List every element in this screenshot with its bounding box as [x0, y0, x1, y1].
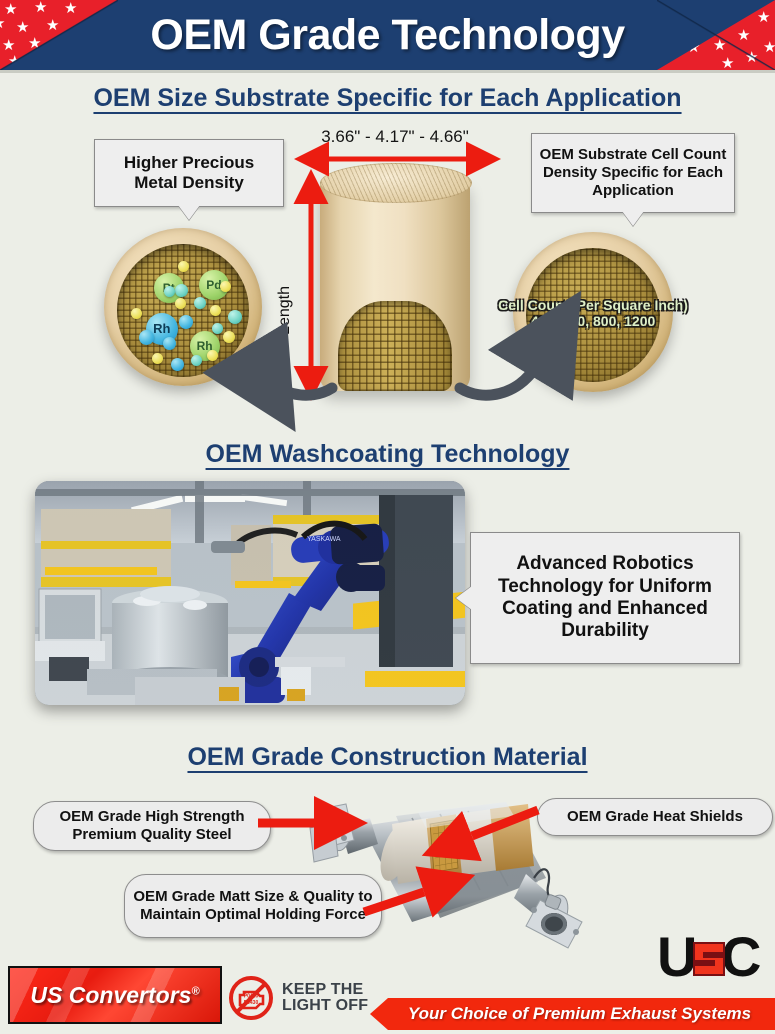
- keep-the-light-off-logo: P0420 P0430 KEEP THE LIGHT OFF: [228, 975, 368, 1021]
- page-title: OEM Grade Technology: [0, 0, 775, 70]
- no-check-engine-light-icon: P0420 P0430: [228, 975, 274, 1021]
- metal-particle: [139, 330, 154, 345]
- cell-count-annotation: Cell Count (Per Square Inch) 400, 600, 8…: [495, 297, 691, 329]
- usc-logo-s: [693, 942, 725, 976]
- callout-tail-icon: [178, 205, 200, 220]
- substrate-cylinder: [320, 163, 470, 403]
- substrate-cell-grid: PtPdRhRh: [117, 244, 250, 377]
- metal-particle: [210, 305, 221, 316]
- robotics-photo: YASKAWA: [35, 481, 465, 705]
- callout-text: Higher Precious Metal Density: [101, 153, 277, 193]
- metal-particle: [131, 308, 142, 319]
- registered-mark: ®: [191, 985, 199, 997]
- callout-advanced-robotics: Advanced Robotics Technology for Uniform…: [470, 532, 740, 664]
- metal-particle: [220, 281, 231, 292]
- callout-tail-icon: [456, 586, 472, 610]
- tagline-banner: Your Choice of Premium Exhaust Systems: [370, 998, 775, 1030]
- metal-particle: [171, 358, 184, 371]
- keep-light-line1: KEEP THE: [282, 982, 368, 998]
- metal-particle: [175, 298, 186, 309]
- brand-name: US Convertors®: [30, 982, 199, 1009]
- pill-oem-grade-matt: OEM Grade Matt Size & Quality to Maintai…: [124, 874, 382, 938]
- tagline-text: Your Choice of Premium Exhaust Systems: [394, 1004, 751, 1024]
- infographic-page: ★ ★ ★ ★ ★ ★ ★ ★ ★ ★ ★ ★ ★ ★ ★ ★ ★: [0, 0, 775, 1034]
- callout-tail-icon: [622, 211, 644, 226]
- pill-oem-grade-steel: OEM Grade High Strength Premium Quality …: [33, 801, 271, 851]
- cylinder-body: [320, 181, 470, 391]
- pill-text: OEM Grade Heat Shields: [567, 808, 743, 826]
- pill-oem-grade-heat-shields: OEM Grade Heat Shields: [537, 798, 773, 836]
- metal-particle: [163, 337, 176, 350]
- metal-particle: [191, 355, 202, 366]
- pill-text: OEM Grade Matt Size & Quality to Maintai…: [133, 888, 373, 924]
- curved-arrow-right-icon: [452, 340, 552, 402]
- metal-particle: [207, 350, 218, 361]
- keep-light-line2: LIGHT OFF: [282, 998, 368, 1014]
- cylinder-top-face: [320, 163, 472, 203]
- arrow-to-heat-shields-icon: [456, 804, 546, 850]
- factory-scene-illustration: YASKAWA: [35, 481, 465, 705]
- diameter-label: 3.66" - 4.17" - 4.66": [305, 127, 485, 147]
- metal-particle: [223, 331, 235, 343]
- curved-arrow-left-icon: [240, 340, 340, 402]
- callout-text: Advanced Robotics Technology for Uniform…: [479, 553, 731, 643]
- metal-particle: [194, 297, 206, 309]
- substrate-disc-precious-metals: PtPdRhRh: [104, 228, 262, 386]
- pill-text: OEM Grade High Strength Premium Quality …: [42, 808, 262, 844]
- diameter-arrow-icon: [310, 150, 485, 168]
- section-title-substrate: OEM Size Substrate Specific for Each App…: [0, 84, 775, 113]
- section-title-construction: OEM Grade Construction Material: [0, 743, 775, 772]
- callout-cell-count-density: OEM Substrate Cell Count Density Specifi…: [531, 133, 735, 213]
- cell-count-values: 400, 600, 800, 1200: [495, 313, 691, 329]
- usc-logo-c: C: [721, 928, 761, 988]
- section-title-washcoating: OEM Washcoating Technology: [0, 440, 775, 469]
- metal-particle: [179, 315, 193, 329]
- metal-particle: [228, 310, 242, 324]
- callout-text: OEM Substrate Cell Count Density Specifi…: [538, 146, 728, 199]
- cell-count-title: Cell Count (Per Square Inch): [495, 297, 691, 313]
- metal-particle: [152, 353, 163, 364]
- callout-higher-precious-metal-density: Higher Precious Metal Density: [94, 139, 284, 207]
- usc-logo: U C: [657, 928, 761, 990]
- arrow-to-matt-icon: [362, 886, 452, 922]
- usc-logo-u: U: [657, 928, 697, 988]
- metal-particle: [175, 284, 188, 297]
- cylinder-cell-face: [338, 301, 452, 391]
- header-bar: ★ ★ ★ ★ ★ ★ ★ ★ ★ ★ ★ ★ ★ ★ ★ ★ ★: [0, 0, 775, 70]
- metal-particle: [178, 261, 189, 272]
- keep-light-text: KEEP THE LIGHT OFF: [282, 982, 368, 1014]
- header-divider: [0, 70, 775, 73]
- arrow-to-steel-icon: [256, 812, 332, 834]
- us-convertors-badge[interactable]: US Convertors®: [8, 966, 222, 1024]
- metal-particle: [212, 323, 223, 334]
- brand-label: US Convertors: [30, 982, 191, 1008]
